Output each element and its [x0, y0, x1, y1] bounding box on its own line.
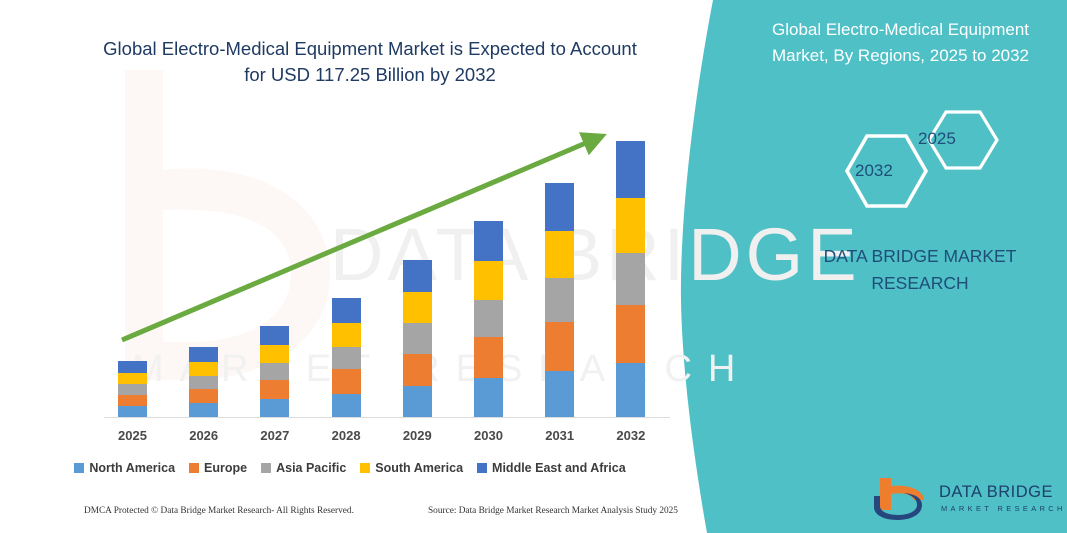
bar-segment — [474, 300, 503, 337]
bar-segment — [118, 384, 147, 395]
panel-brand-line-1: DATA BRIDGE MARKET — [790, 243, 1050, 270]
x-axis-label-2025: 2025 — [103, 428, 163, 443]
bar-segment — [616, 253, 645, 305]
x-axis-label-2027: 2027 — [245, 428, 305, 443]
legend-item[interactable]: Europe — [189, 461, 247, 475]
legend-item[interactable]: North America — [74, 461, 175, 475]
legend-label: Europe — [204, 461, 247, 475]
bar-segment — [332, 298, 361, 323]
bar-segment — [189, 376, 218, 389]
bar-segment — [545, 371, 574, 417]
bar-segment — [403, 323, 432, 354]
bar-segment — [545, 231, 574, 278]
footer-source: Source: Data Bridge Market Research Mark… — [428, 506, 678, 516]
footer: DMCA Protected © Data Bridge Market Rese… — [0, 506, 700, 526]
panel-brand-line-2: RESEARCH — [790, 270, 1050, 297]
bar-2026 — [189, 347, 218, 417]
bar-segment — [189, 403, 218, 417]
bar-segment — [474, 261, 503, 300]
bar-segment — [616, 141, 645, 198]
bar-segment — [545, 278, 574, 322]
x-axis-label-2026: 2026 — [174, 428, 234, 443]
legend-label: South America — [375, 461, 463, 475]
bar-segment — [118, 406, 147, 417]
bar-2030 — [474, 221, 503, 417]
bar-segment — [332, 347, 361, 369]
panel-brand-text: DATA BRIDGE MARKET RESEARCH — [790, 243, 1050, 297]
x-axis-label-2031: 2031 — [530, 428, 590, 443]
bar-segment — [616, 363, 645, 417]
bar-segment — [332, 369, 361, 394]
bar-segment — [545, 322, 574, 371]
x-axis-label-2032: 2032 — [601, 428, 661, 443]
logo-name: DATA BRIDGE — [939, 483, 1053, 502]
panel-title-line-2: Market, By Regions, 2025 to 2032 — [748, 43, 1053, 69]
footer-copyright: DMCA Protected © Data Bridge Market Rese… — [84, 506, 354, 516]
bar-segment — [118, 373, 147, 384]
bar-segment — [332, 394, 361, 417]
bar-2028 — [332, 298, 361, 417]
legend-swatch-icon — [360, 463, 370, 473]
bar-segment — [118, 395, 147, 406]
bar-segment — [189, 362, 218, 376]
bar-2032 — [616, 141, 645, 417]
bar-2027 — [260, 326, 289, 417]
bar-2025 — [118, 361, 147, 417]
x-axis-labels: 20252026202720282029203020312032 — [0, 428, 700, 448]
bar-segment — [260, 345, 289, 363]
panel-title: Global Electro-Medical Equipment Market,… — [748, 17, 1053, 69]
bar-segment — [118, 361, 147, 373]
chart-baseline — [104, 417, 670, 418]
legend-swatch-icon — [477, 463, 487, 473]
legend-label: Middle East and Africa — [492, 461, 626, 475]
bar-segment — [403, 386, 432, 417]
bar-segment — [403, 292, 432, 323]
bar-segment — [403, 354, 432, 386]
growth-trend-arrow — [0, 0, 700, 533]
bar-segment — [474, 378, 503, 417]
data-bridge-logo-icon — [872, 476, 930, 522]
bar-segment — [616, 198, 645, 253]
legend-swatch-icon — [189, 463, 199, 473]
bar-segment — [332, 323, 361, 347]
hexagon-pair — [820, 100, 1020, 210]
legend-item[interactable]: South America — [360, 461, 463, 475]
x-axis-label-2030: 2030 — [459, 428, 519, 443]
bar-2029 — [403, 260, 432, 417]
stacked-bar-chart: 20252026202720282029203020312032 North A… — [0, 0, 700, 533]
hexagon-2025-label: 2025 — [918, 129, 956, 149]
x-axis-label-2028: 2028 — [316, 428, 376, 443]
hexagon-2032-label: 2032 — [855, 161, 893, 181]
bar-segment — [616, 305, 645, 363]
legend-label: Asia Pacific — [276, 461, 346, 475]
chart-legend: North AmericaEuropeAsia PacificSouth Ame… — [0, 461, 700, 475]
bar-segment — [474, 221, 503, 261]
bar-segment — [403, 260, 432, 292]
logo-tagline: MARKET RESEARCH — [941, 504, 1066, 513]
bar-segment — [260, 363, 289, 380]
legend-label: North America — [89, 461, 175, 475]
bar-segment — [260, 399, 289, 417]
bar-segment — [260, 380, 289, 399]
legend-item[interactable]: Asia Pacific — [261, 461, 346, 475]
panel-title-line-1: Global Electro-Medical Equipment — [748, 17, 1053, 43]
bar-segment — [189, 347, 218, 362]
legend-swatch-icon — [261, 463, 271, 473]
bar-segment — [474, 337, 503, 378]
bar-segment — [545, 183, 574, 231]
bar-segment — [260, 326, 289, 345]
infographic-canvas: DATA BRIDGE MARKET RESEARCH Global Elect… — [0, 0, 1067, 533]
x-axis-label-2029: 2029 — [387, 428, 447, 443]
legend-swatch-icon — [74, 463, 84, 473]
bar-2031 — [545, 183, 574, 417]
legend-item[interactable]: Middle East and Africa — [477, 461, 626, 475]
bar-segment — [189, 389, 218, 403]
